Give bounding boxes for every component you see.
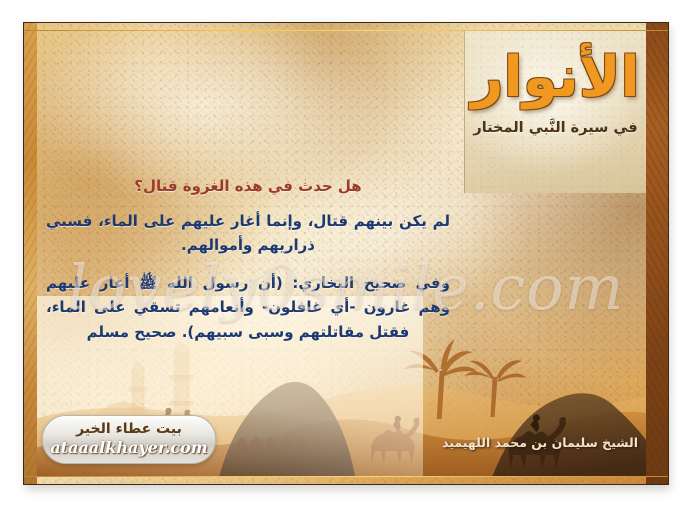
author-credit: الشيخ سليمان بن محمد اللهيميد xyxy=(442,435,638,450)
site-logo-badge[interactable]: بيت عطاء الخير ataaalkhayer.com xyxy=(42,415,216,464)
left-edge-band xyxy=(24,23,37,484)
logo-website-url: ataaalkhayer.com xyxy=(50,439,207,457)
paragraph-answer: لم يكن بينهم قتال، وإنما أغار عليهم على … xyxy=(46,209,450,258)
right-edge-band xyxy=(646,23,668,484)
question-heading: هل حدث في هذه الغزوة قتال؟ xyxy=(46,175,450,198)
body-text-block: هل حدث في هذه الغزوة قتال؟ لم يكن بينهم … xyxy=(46,175,450,344)
logo-arabic-name: بيت عطاء الخير xyxy=(76,422,182,437)
card-frame: الأنوار في سيرة النَّبي المختار lovely0s… xyxy=(0,0,692,512)
gold-rule-bottom xyxy=(24,476,668,477)
paragraph-hadith: وفي صحيح البخاري: (أن رسول الله ﷺ أغار ع… xyxy=(46,271,450,344)
rock-outcrop-centre xyxy=(219,382,355,476)
page-subtitle: في سيرة النَّبي المختار xyxy=(473,120,637,136)
title-panel: الأنوار في سيرة النَّبي المختار xyxy=(464,31,646,193)
artwork-plate: الأنوار في سيرة النَّبي المختار lovely0s… xyxy=(23,22,669,485)
page-title: الأنوار xyxy=(471,49,639,108)
